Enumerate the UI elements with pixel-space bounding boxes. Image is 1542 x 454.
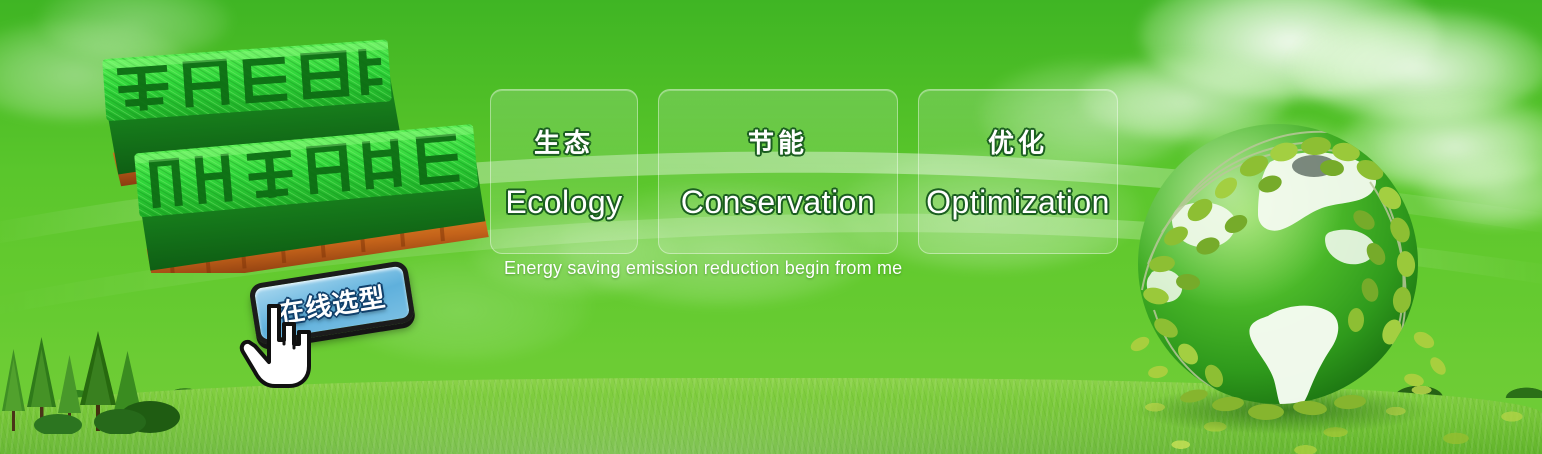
feature-card-cn-label: 节能 [748,123,808,160]
conifer-trees-icon [0,329,190,434]
hand-pointer-icon [239,300,317,392]
feature-card-cn-label: 优化 [988,123,1048,160]
feature-card-conservation[interactable]: 节能 Conservation [658,89,898,254]
feature-card-en-label: Ecology [505,184,622,221]
leafy-green-globe-icon [1118,104,1458,434]
feature-card-en-label: Conservation [681,184,876,221]
feature-card-en-label: Optimization [926,184,1110,221]
feature-card-ecology[interactable]: 生态 Ecology [490,89,638,254]
eco-banner: GREEN [0,0,1542,454]
headline-3d-artwork: GREEN [96,38,496,273]
tagline-text: Energy saving emission reduction begin f… [504,258,902,279]
feature-card-optimization[interactable]: 优化 Optimization [918,89,1118,254]
feature-cards: 生态 Ecology 节能 Conservation 优化 Optimizati… [490,89,1120,254]
feature-card-cn-label: 生态 [534,123,594,160]
